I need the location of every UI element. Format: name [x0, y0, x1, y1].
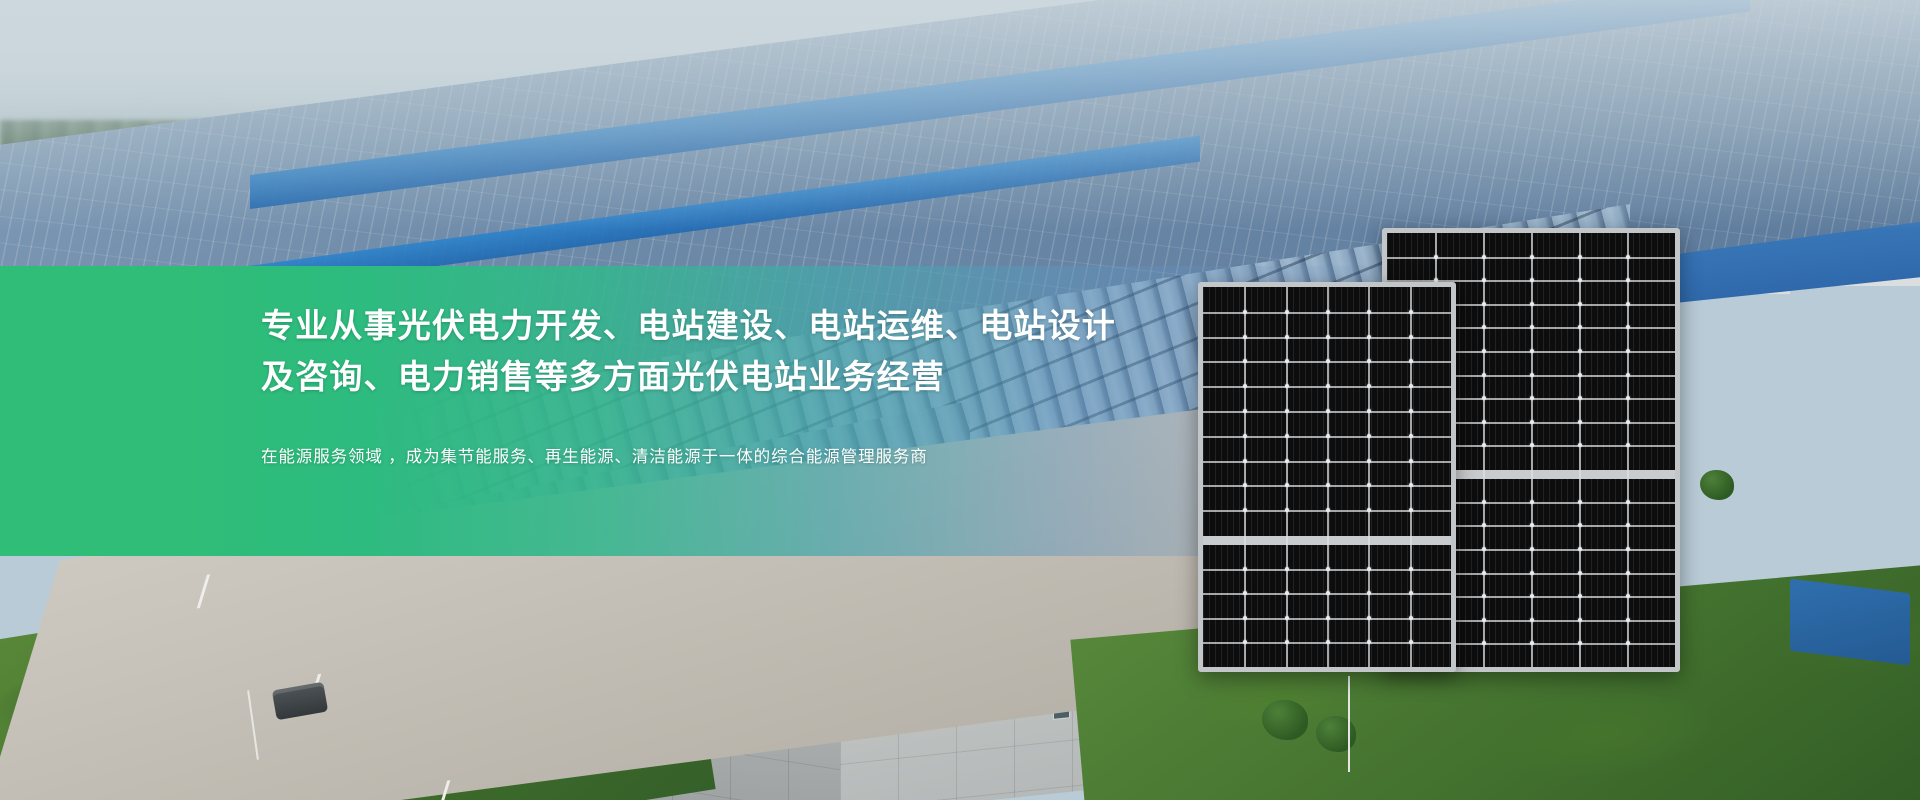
busbar-dot — [1409, 359, 1413, 363]
busbar-dot — [1326, 508, 1330, 512]
busbar-dot — [1285, 310, 1289, 314]
busbar-dot — [1409, 567, 1413, 571]
busbar-dot — [1367, 567, 1371, 571]
busbar-dot — [1530, 618, 1534, 622]
busbar-dot — [1367, 409, 1371, 413]
busbar-dot — [1243, 567, 1247, 571]
busbar-dot — [1285, 591, 1289, 595]
busbar-dot — [1285, 567, 1289, 571]
busbar-dot — [1482, 571, 1486, 575]
tree — [1316, 716, 1356, 752]
busbar-dot — [1285, 384, 1289, 388]
cell-grid — [1203, 287, 1451, 667]
busbar-dot — [1326, 616, 1330, 620]
busbar-dot — [1530, 594, 1534, 598]
busbar-dot — [1482, 500, 1486, 504]
busbar-dot — [1626, 302, 1630, 306]
busbar-dot — [1409, 508, 1413, 512]
busbar-dot — [1482, 523, 1486, 527]
busbar-dot — [1243, 384, 1247, 388]
busbar-dot — [1409, 310, 1413, 314]
busbar-dot — [1409, 409, 1413, 413]
busbar-dot — [1578, 618, 1582, 622]
busbar-dot — [1578, 594, 1582, 598]
busbar-dot — [1367, 640, 1371, 644]
busbar-dot — [1367, 508, 1371, 512]
busbar-dot — [1326, 359, 1330, 363]
headline-line-2: 及咨询、电力销售等多方面光伏电站业务经营 — [261, 351, 1161, 402]
cell-column-line — [1531, 233, 1533, 667]
busbar-dot — [1578, 500, 1582, 504]
busbar-dot — [1482, 594, 1486, 598]
busbar-dot — [1626, 373, 1630, 377]
busbar-dot — [1285, 459, 1289, 463]
busbar-dot — [1482, 618, 1486, 622]
busbar-dot — [1482, 349, 1486, 353]
busbar-dot — [1285, 409, 1289, 413]
busbar-dot — [1367, 359, 1371, 363]
busbar-dot — [1578, 443, 1582, 447]
busbar-dot — [1482, 255, 1486, 259]
street-lamp — [1348, 676, 1350, 772]
busbar-dot — [1367, 384, 1371, 388]
cell-column-line — [1483, 233, 1485, 667]
busbar-dot — [1285, 335, 1289, 339]
busbar-dot — [1243, 591, 1247, 595]
busbar-dot — [1482, 373, 1486, 377]
busbar-dot — [1409, 335, 1413, 339]
busbar-dot — [1285, 359, 1289, 363]
busbar-dot — [1626, 641, 1630, 645]
busbar-dot — [1626, 523, 1630, 527]
headline-line-1: 专业从事光伏电力开发、电站建设、电站运维、电站设计 — [261, 300, 1161, 351]
busbar-dot — [1482, 325, 1486, 329]
busbar-dot — [1530, 547, 1534, 551]
solar-panel-front — [1198, 282, 1456, 672]
busbar-dot — [1530, 396, 1534, 400]
busbar-dot — [1626, 396, 1630, 400]
cell-column-line — [1244, 287, 1246, 667]
busbar-dot — [1530, 443, 1534, 447]
busbar-dot — [1367, 616, 1371, 620]
busbar-dot — [1626, 349, 1630, 353]
busbar-dot — [1326, 434, 1330, 438]
busbar-dot — [1626, 594, 1630, 598]
cell-column-line — [1579, 233, 1581, 667]
busbar-dot — [1626, 255, 1630, 259]
cell-column-line — [1327, 287, 1329, 667]
busbar-dot — [1367, 483, 1371, 487]
banner-subtitle: 在能源服务领域 ，成为集节能服务、再生能源、清洁能源于一体的综合能源管理服务商 — [261, 444, 1161, 470]
blue-tarp — [1790, 579, 1910, 666]
tree — [1700, 470, 1734, 500]
busbar-dot — [1482, 547, 1486, 551]
busbar-dot — [1243, 459, 1247, 463]
busbar-dot — [1243, 434, 1247, 438]
busbar-dot — [1626, 325, 1630, 329]
busbar-dot — [1482, 396, 1486, 400]
busbar-dot — [1285, 640, 1289, 644]
busbar-dot — [1626, 500, 1630, 504]
busbar-dot — [1482, 302, 1486, 306]
busbar-dot — [1530, 373, 1534, 377]
busbar-dot — [1409, 640, 1413, 644]
busbar-dot — [1367, 591, 1371, 595]
busbar-dot — [1285, 483, 1289, 487]
busbar-dot — [1367, 335, 1371, 339]
hero-banner: 专业从事光伏电力开发、电站建设、电站运维、电站设计 及咨询、电力销售等多方面光伏… — [0, 0, 1920, 800]
busbar-dot — [1578, 349, 1582, 353]
tree — [1262, 700, 1308, 740]
busbar-dot — [1243, 483, 1247, 487]
busbar-dot — [1326, 459, 1330, 463]
busbar-dot — [1326, 335, 1330, 339]
busbar-dot — [1530, 523, 1534, 527]
busbar-dot — [1367, 434, 1371, 438]
busbar-dot — [1578, 373, 1582, 377]
busbar-dot — [1530, 641, 1534, 645]
busbar-dot — [1626, 547, 1630, 551]
busbar-dot — [1243, 640, 1247, 644]
busbar-dot — [1409, 616, 1413, 620]
cell-column-line — [1286, 287, 1288, 667]
busbar-dot — [1578, 571, 1582, 575]
busbar-dot — [1530, 571, 1534, 575]
busbar-dot — [1326, 409, 1330, 413]
busbar-dot — [1326, 591, 1330, 595]
busbar-dot — [1326, 640, 1330, 644]
busbar-dot — [1409, 384, 1413, 388]
busbar-dot — [1578, 547, 1582, 551]
busbar-dot — [1482, 641, 1486, 645]
busbar-dot — [1626, 420, 1630, 424]
busbar-dot — [1285, 434, 1289, 438]
busbar-dot — [1530, 302, 1534, 306]
busbar-dot — [1326, 483, 1330, 487]
busbar-dot — [1243, 335, 1247, 339]
panel-surface — [1203, 287, 1451, 667]
busbar-dot — [1626, 618, 1630, 622]
busbar-dot — [1482, 420, 1486, 424]
busbar-dot — [1530, 278, 1534, 282]
busbar-dot — [1578, 255, 1582, 259]
busbar-dot — [1626, 443, 1630, 447]
cell-column-line — [1410, 287, 1412, 667]
busbar-dot — [1326, 310, 1330, 314]
busbar-dot — [1243, 508, 1247, 512]
busbar-dot — [1530, 500, 1534, 504]
busbar-dot — [1367, 310, 1371, 314]
busbar-dot — [1285, 616, 1289, 620]
busbar-dot — [1578, 278, 1582, 282]
busbar-dot — [1530, 325, 1534, 329]
busbar-dot — [1578, 302, 1582, 306]
busbar-dot — [1243, 310, 1247, 314]
busbar-dot — [1409, 459, 1413, 463]
busbar-dot — [1578, 523, 1582, 527]
busbar-dot — [1326, 567, 1330, 571]
busbar-dot — [1530, 420, 1534, 424]
cell-column-line — [1627, 233, 1629, 667]
busbar-dot — [1243, 359, 1247, 363]
cell-column-line — [1368, 287, 1370, 667]
busbar-dot — [1530, 255, 1534, 259]
busbar-dot — [1626, 571, 1630, 575]
busbar-dot — [1285, 508, 1289, 512]
busbar-dot — [1243, 409, 1247, 413]
busbar-dot — [1578, 396, 1582, 400]
busbar-dot — [1434, 255, 1438, 259]
busbar-dot — [1482, 278, 1486, 282]
busbar-dot — [1243, 616, 1247, 620]
busbar-dot — [1482, 443, 1486, 447]
busbar-dot — [1409, 483, 1413, 487]
busbar-dot — [1409, 591, 1413, 595]
busbar-dot — [1530, 349, 1534, 353]
busbar-dot — [1326, 384, 1330, 388]
busbar-dot — [1626, 278, 1630, 282]
busbar-dot — [1578, 420, 1582, 424]
busbar-dot — [1409, 434, 1413, 438]
busbar-dot — [1578, 325, 1582, 329]
busbar-dot — [1578, 641, 1582, 645]
banner-copy: 专业从事光伏电力开发、电站建设、电站运维、电站设计 及咨询、电力销售等多方面光伏… — [261, 300, 1161, 470]
busbar-dot — [1367, 459, 1371, 463]
